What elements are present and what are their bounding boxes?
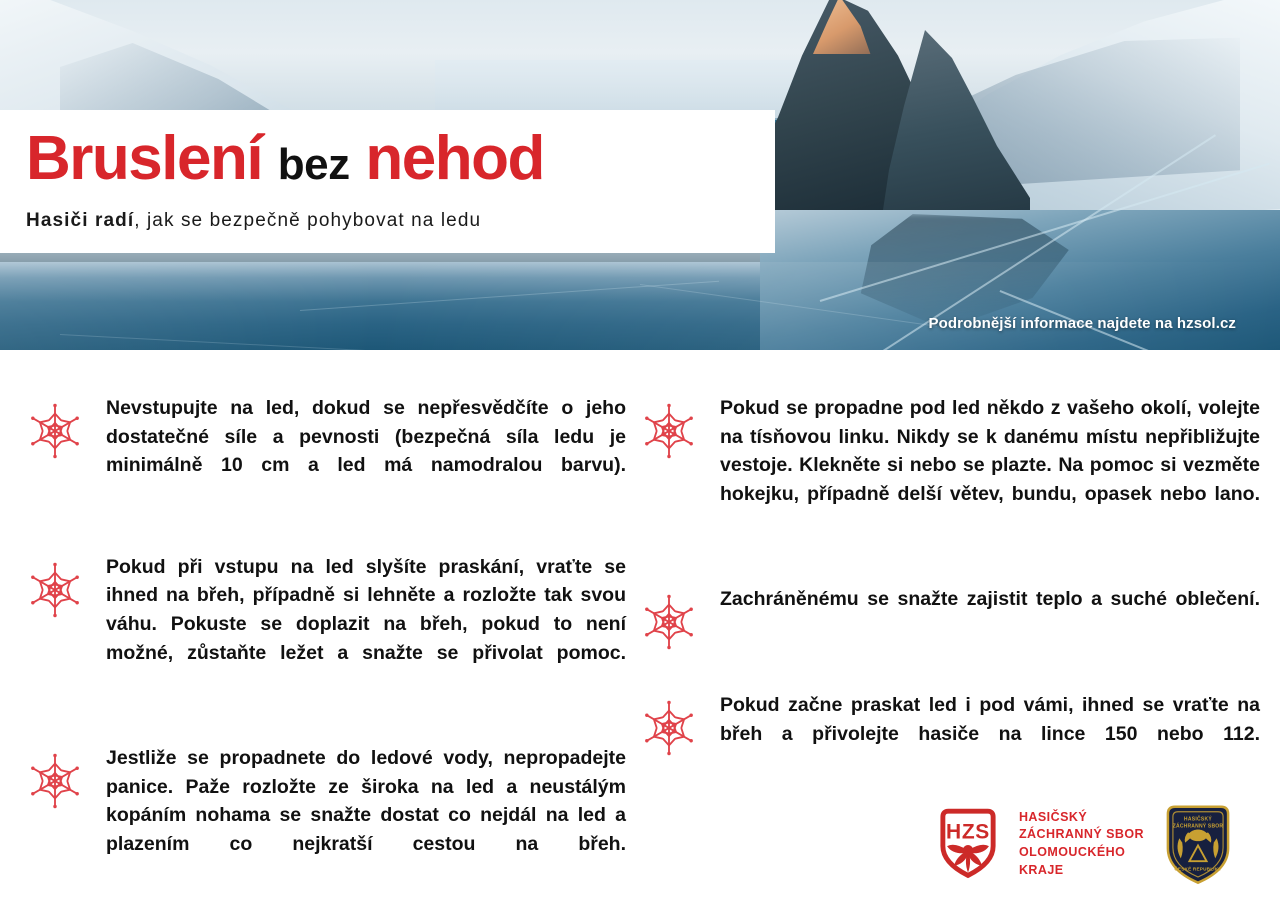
- hzs-logo-lockup: HZS HASIČSKÝ ZÁCHRANNÝ SBOR: [933, 807, 1144, 881]
- svg-text:HZS: HZS: [946, 820, 990, 843]
- tip-item: Pokud při vstupu na led slyšíte praskání…: [26, 553, 626, 696]
- org-line-3: OLOMOUCKÉHO: [1019, 844, 1144, 862]
- tips-body: Nevstupujte na led, dokud se nepřesvědčí…: [0, 350, 1280, 905]
- hzs-wordmark: HASIČSKÝ ZÁCHRANNÝ SBOR OLOMOUCKÉHO KRAJ…: [1019, 809, 1144, 880]
- snowflake-icon: [26, 561, 84, 619]
- snowflake-icon: [640, 699, 698, 757]
- tip-text: Nevstupujte na led, dokud se nepřesvědčí…: [106, 394, 626, 509]
- snowflake-icon: [26, 402, 84, 460]
- tip-text: Jestliže se propadnete do ledové vody, n…: [106, 744, 626, 887]
- org-line-1: HASIČSKÝ: [1019, 809, 1144, 827]
- ice-sheen: [0, 262, 1280, 350]
- poster-root: Bruslení bez nehod Hasiči radí, jak se b…: [0, 0, 1280, 905]
- snowflake-icon: [640, 402, 698, 460]
- tip-item: Jestliže se propadnete do ledové vody, n…: [26, 744, 626, 887]
- title-word-nehod: nehod: [365, 124, 543, 193]
- page-title: Bruslení bez nehod: [26, 128, 775, 190]
- tip-text: Pokud při vstupu na led slyšíte praskání…: [106, 553, 626, 696]
- title-word-brusleni: Bruslení: [26, 124, 262, 193]
- title-word-bez: bez: [278, 140, 350, 189]
- tips-column-right: Pokud se propadne pod led někdo z vašeho…: [640, 394, 1260, 811]
- snowflake-icon: [640, 593, 698, 651]
- title-card: Bruslení bez nehod Hasiči radí, jak se b…: [0, 110, 775, 253]
- tip-item: Pokud začne praskat led i pod vámi, ihne…: [640, 691, 1260, 777]
- tips-column-left: Nevstupujte na led, dokud se nepřesvědčí…: [26, 394, 626, 905]
- tip-item: Nevstupujte na led, dokud se nepřesvědčí…: [26, 394, 626, 509]
- tip-text: Zachráněnému se snažte zajistit teplo a …: [720, 585, 1260, 642]
- hzs-cr-badge-icon: HASIČSKÝ ZÁCHRANNÝ SBOR ČESKÉ REPUBLIKY: [1162, 801, 1234, 887]
- subtitle-rest: , jak se bezpečně pohybovat na ledu: [134, 210, 481, 231]
- hzs-shield-icon: HZS: [933, 807, 1003, 881]
- svg-text:ZÁCHRANNÝ SBOR: ZÁCHRANNÝ SBOR: [1173, 823, 1224, 830]
- org-line-2: ZÁCHRANNÝ SBOR: [1019, 826, 1144, 844]
- snowflake-icon: [26, 752, 84, 810]
- tip-text: Pokud začne praskat led i pod vámi, ihne…: [720, 691, 1260, 777]
- org-line-4: KRAJE: [1019, 862, 1144, 880]
- tip-text: Pokud se propadne pod led někdo z vašeho…: [720, 394, 1260, 537]
- website-note: Podrobnější informace najdete na hzsol.c…: [929, 315, 1237, 332]
- tip-item: Pokud se propadne pod led někdo z vašeho…: [640, 394, 1260, 537]
- subtitle-strong: Hasiči radí: [26, 210, 134, 231]
- hero-banner: Bruslení bez nehod Hasiči radí, jak se b…: [0, 0, 1280, 350]
- tip-item: Zachráněnému se snažte zajistit teplo a …: [640, 585, 1260, 651]
- svg-text:HASIČSKÝ: HASIČSKÝ: [1184, 815, 1213, 822]
- footer-logos: HZS HASIČSKÝ ZÁCHRANNÝ SBOR: [933, 801, 1234, 887]
- page-subtitle: Hasiči radí, jak se bezpečně pohybovat n…: [26, 210, 775, 232]
